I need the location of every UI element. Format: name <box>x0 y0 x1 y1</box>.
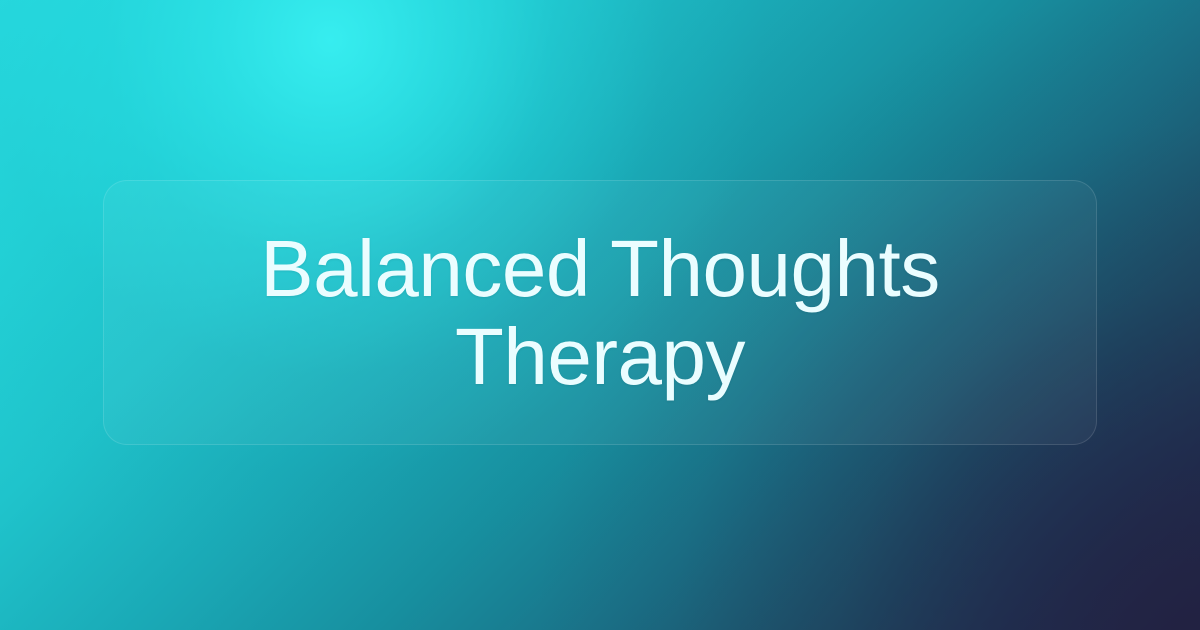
og-image-stage: Balanced Thoughts Therapy <box>0 0 1200 630</box>
title-card: Balanced Thoughts Therapy <box>103 180 1097 445</box>
page-title: Balanced Thoughts Therapy <box>144 225 1056 401</box>
